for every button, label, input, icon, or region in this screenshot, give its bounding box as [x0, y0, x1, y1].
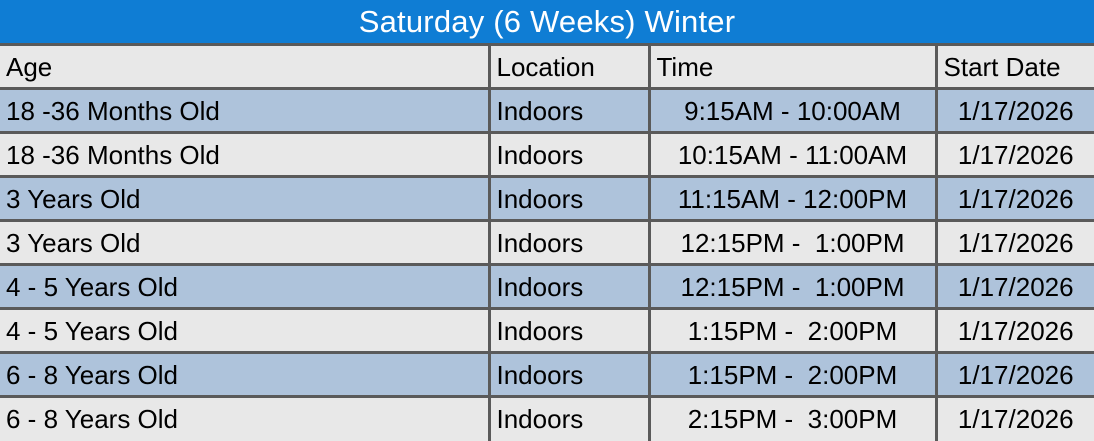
column-header-location[interactable]: Location [489, 45, 649, 89]
column-header-time[interactable]: Time [649, 45, 936, 89]
table-row[interactable]: 3 Years OldIndoors11:15AM - 12:00PM1/17/… [0, 177, 1094, 221]
cell-time: 11:15AM - 12:00PM [649, 177, 936, 221]
table-row[interactable]: 6 - 8 Years OldIndoors1:15PM - 2:00PM1/1… [0, 353, 1094, 397]
cell-location: Indoors [489, 309, 649, 353]
cell-location: Indoors [489, 221, 649, 265]
cell-age: 6 - 8 Years Old [0, 397, 489, 441]
table-row[interactable]: 18 -36 Months OldIndoors9:15AM - 10:00AM… [0, 89, 1094, 133]
table-header: Age Location Time Start Date [0, 45, 1094, 89]
table-row[interactable]: 6 - 8 Years OldIndoors2:15PM - 3:00PM1/1… [0, 397, 1094, 441]
cell-time: 10:15AM - 11:00AM [649, 133, 936, 177]
table-body: 18 -36 Months OldIndoors9:15AM - 10:00AM… [0, 89, 1094, 441]
cell-location: Indoors [489, 177, 649, 221]
cell-age: 4 - 5 Years Old [0, 309, 489, 353]
table-row[interactable]: 18 -36 Months OldIndoors10:15AM - 11:00A… [0, 133, 1094, 177]
cell-time: 1:15PM - 2:00PM [649, 309, 936, 353]
table-header-row: Age Location Time Start Date [0, 45, 1094, 89]
cell-time: 2:15PM - 3:00PM [649, 397, 936, 441]
cell-start-date: 1/17/2026 [936, 309, 1094, 353]
cell-start-date: 1/17/2026 [936, 221, 1094, 265]
schedule-table: Age Location Time Start Date 18 -36 Mont… [0, 43, 1094, 441]
cell-start-date: 1/17/2026 [936, 89, 1094, 133]
cell-location: Indoors [489, 353, 649, 397]
title-bar: Saturday (6 Weeks) Winter [0, 0, 1094, 43]
table-row[interactable]: 3 Years OldIndoors12:15PM - 1:00PM1/17/2… [0, 221, 1094, 265]
cell-start-date: 1/17/2026 [936, 133, 1094, 177]
cell-time: 12:15PM - 1:00PM [649, 221, 936, 265]
cell-location: Indoors [489, 133, 649, 177]
cell-time: 12:15PM - 1:00PM [649, 265, 936, 309]
cell-age: 3 Years Old [0, 221, 489, 265]
column-header-age[interactable]: Age [0, 45, 489, 89]
cell-age: 3 Years Old [0, 177, 489, 221]
cell-age: 18 -36 Months Old [0, 89, 489, 133]
column-header-start-date[interactable]: Start Date [936, 45, 1094, 89]
table-row[interactable]: 4 - 5 Years OldIndoors12:15PM - 1:00PM1/… [0, 265, 1094, 309]
cell-location: Indoors [489, 265, 649, 309]
cell-age: 18 -36 Months Old [0, 133, 489, 177]
cell-age: 6 - 8 Years Old [0, 353, 489, 397]
table-row[interactable]: 4 - 5 Years OldIndoors1:15PM - 2:00PM1/1… [0, 309, 1094, 353]
page-title: Saturday (6 Weeks) Winter [359, 6, 736, 37]
cell-start-date: 1/17/2026 [936, 265, 1094, 309]
schedule-card: Saturday (6 Weeks) Winter Age Location T… [0, 0, 1094, 440]
cell-location: Indoors [489, 89, 649, 133]
cell-time: 1:15PM - 2:00PM [649, 353, 936, 397]
cell-location: Indoors [489, 397, 649, 441]
cell-start-date: 1/17/2026 [936, 177, 1094, 221]
cell-time: 9:15AM - 10:00AM [649, 89, 936, 133]
cell-start-date: 1/17/2026 [936, 397, 1094, 441]
cell-age: 4 - 5 Years Old [0, 265, 489, 309]
cell-start-date: 1/17/2026 [936, 353, 1094, 397]
